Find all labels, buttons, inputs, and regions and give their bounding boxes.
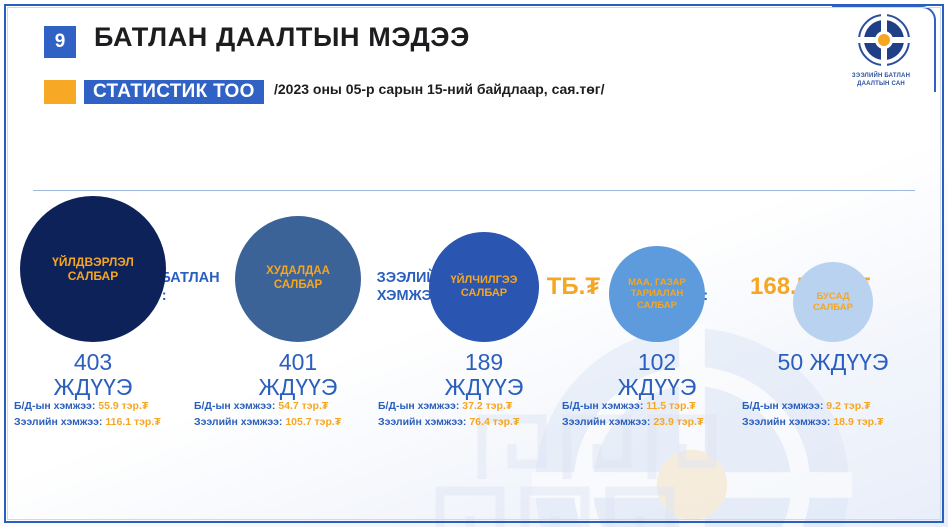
sector-note-loan-value: 76.4 тэр.₮ xyxy=(469,416,519,428)
sector-bubble[interactable]: МАА, ГАЗАР ТАРИАЛАН САЛБАР xyxy=(609,246,705,342)
sector-count: 50 ЖДҮҮЭ xyxy=(743,350,923,375)
sector-note-loan: Зээлийн хэмжээ: 76.4 тэр.₮ xyxy=(378,414,519,430)
sector-bubble[interactable]: БУСАД САЛБАР xyxy=(793,262,873,342)
sector-note-guarantee-label: Б/Д-ын хэмжээ: xyxy=(14,400,95,412)
sector-note-guarantee: Б/Д-ын хэмжээ: 54.7 тэр.₮ xyxy=(194,398,341,414)
orange-square-marker xyxy=(44,80,76,104)
slide-root: 9 БАТЛАН ДААЛТЫН МЭДЭЭ СТАТИСТИК ТОО /20… xyxy=(0,0,948,527)
sector-note-guarantee: Б/Д-ын хэмжээ: 11.5 тэр.₮ xyxy=(562,398,703,414)
logo-caption-line2: ДААЛТЫН САН xyxy=(832,80,930,88)
sector-note-guarantee-value: 9.2 тэр.₮ xyxy=(826,400,870,412)
sector-bubble-label: ҮЙЛДВЭРЛЭЛ САЛБАР xyxy=(52,255,134,284)
sector-count: 189 ЖДҮҮЭ xyxy=(394,350,574,401)
sector-note-loan-label: Зээлийн хэмжээ: xyxy=(14,416,102,428)
sector-bubble-label: ХУДАЛДАА САЛБАР xyxy=(266,265,330,293)
sector-bubble-label: МАА, ГАЗАР ТАРИАЛАН САЛБАР xyxy=(628,277,686,311)
sector-note-loan-label: Зээлийн хэмжээ: xyxy=(562,416,650,428)
sector-bubble[interactable]: ҮЙЛЧИЛГЭЭ САЛБАР xyxy=(429,232,539,342)
sector-count: 403 ЖДҮҮЭ xyxy=(0,350,186,401)
header-divider xyxy=(33,190,915,191)
header: 9 БАТЛАН ДААЛТЫН МЭДЭЭ СТАТИСТИК ТОО /20… xyxy=(0,0,948,118)
sector-bubble[interactable]: ҮЙЛДВЭРЛЭЛ САЛБАР xyxy=(20,196,166,342)
sector-note-loan-value: 116.1 тэр.₮ xyxy=(105,416,160,428)
sector-notes: Б/Д-ын хэмжээ: 55.9 тэр.₮Зээлийн хэмжээ:… xyxy=(0,398,948,442)
sector-note-loan: Зээлийн хэмжээ: 23.9 тэр.₮ xyxy=(562,414,703,430)
sector-note-loan-value: 105.7 тэр.₮ xyxy=(285,416,341,428)
page-title: БАТЛАН ДААЛТЫН МЭДЭЭ xyxy=(94,22,470,53)
sector-count: 401 ЖДҮҮЭ xyxy=(208,350,388,401)
sector-note-guarantee-value: 54.7 тэр.₮ xyxy=(278,400,328,412)
sector-note-guarantee-label: Б/Д-ын хэмжээ: xyxy=(378,400,459,412)
sector-note: Б/Д-ын хэмжээ: 11.5 тэр.₮Зээлийн хэмжээ:… xyxy=(562,398,703,431)
sector-note-loan-label: Зээлийн хэмжээ: xyxy=(194,416,282,428)
organization-logo: ЗЭЭЛИЙН БАТЛАН ДААЛТЫН САН xyxy=(832,6,936,92)
sector-note-loan: Зээлийн хэмжээ: 18.9 тэр.₮ xyxy=(742,414,883,430)
sector-bubble-label: БУСАД САЛБАР xyxy=(813,291,853,314)
page-number-badge: 9 xyxy=(44,26,76,58)
subtitle-note: /2023 оны 05-р сарын 15-ний байдлаар, са… xyxy=(274,81,605,97)
sector-note-guarantee-label: Б/Д-ын хэмжээ: xyxy=(194,400,275,412)
sector-note: Б/Д-ын хэмжээ: 9.2 тэр.₮Зээлийн хэмжээ: … xyxy=(742,398,883,431)
sector-note-guarantee-value: 37.2 тэр.₮ xyxy=(462,400,512,412)
sector-note-guarantee-value: 55.9 тэр.₮ xyxy=(98,400,148,412)
sector-note-loan-value: 18.9 тэр.₮ xyxy=(833,416,883,428)
sector-note-loan-label: Зээлийн хэмжээ: xyxy=(378,416,466,428)
sector-note: Б/Д-ын хэмжээ: 55.9 тэр.₮Зээлийн хэмжээ:… xyxy=(14,398,161,431)
sector-note-loan-value: 23.9 тэр.₮ xyxy=(653,416,703,428)
logo-caption-line1: ЗЭЭЛИЙН БАТЛАН xyxy=(832,72,930,80)
sector-count: 102 ЖДҮҮЭ xyxy=(567,350,747,401)
sector-note-guarantee-value: 11.5 тэр.₮ xyxy=(646,400,695,412)
sector-note-guarantee-label: Б/Д-ын хэмжээ: xyxy=(562,400,643,412)
sector-bubble[interactable]: ХУДАЛДАА САЛБАР xyxy=(235,216,361,342)
sector-note-guarantee: Б/Д-ын хэмжээ: 55.9 тэр.₮ xyxy=(14,398,161,414)
sector-bubble-label: ҮЙЛЧИЛГЭЭ САЛБАР xyxy=(451,274,518,300)
logo-caption: ЗЭЭЛИЙН БАТЛАН ДААЛТЫН САН xyxy=(832,72,930,88)
sector-note-guarantee: Б/Д-ын хэмжээ: 37.2 тэр.₮ xyxy=(378,398,519,414)
sector-note: Б/Д-ын хэмжээ: 37.2 тэр.₮Зээлийн хэмжээ:… xyxy=(378,398,519,431)
sector-note-loan-label: Зээлийн хэмжээ: xyxy=(742,416,830,428)
sector-note-loan: Зээлийн хэмжээ: 105.7 тэр.₮ xyxy=(194,414,341,430)
subtitle-badge: СТАТИСТИК ТОО xyxy=(84,80,264,104)
kpi-strip: БАТЛАГДСАН БАТЛАН ДААЛТ: 1145 ЖДҮҮЭ ЗЭЭЛ… xyxy=(0,130,948,188)
sector-note-guarantee: Б/Д-ын хэмжээ: 9.2 тэр.₮ xyxy=(742,398,883,414)
sector-note-guarantee-label: Б/Д-ын хэмжээ: xyxy=(742,400,823,412)
sector-bubble-chart: ҮЙЛДВЭРЛЭЛ САЛБАР403 ЖДҮҮЭХУДАЛДАА САЛБА… xyxy=(0,196,948,396)
sector-note: Б/Д-ын хэмжээ: 54.7 тэр.₮Зээлийн хэмжээ:… xyxy=(194,398,341,431)
sector-note-loan: Зээлийн хэмжээ: 116.1 тэр.₮ xyxy=(14,414,161,430)
